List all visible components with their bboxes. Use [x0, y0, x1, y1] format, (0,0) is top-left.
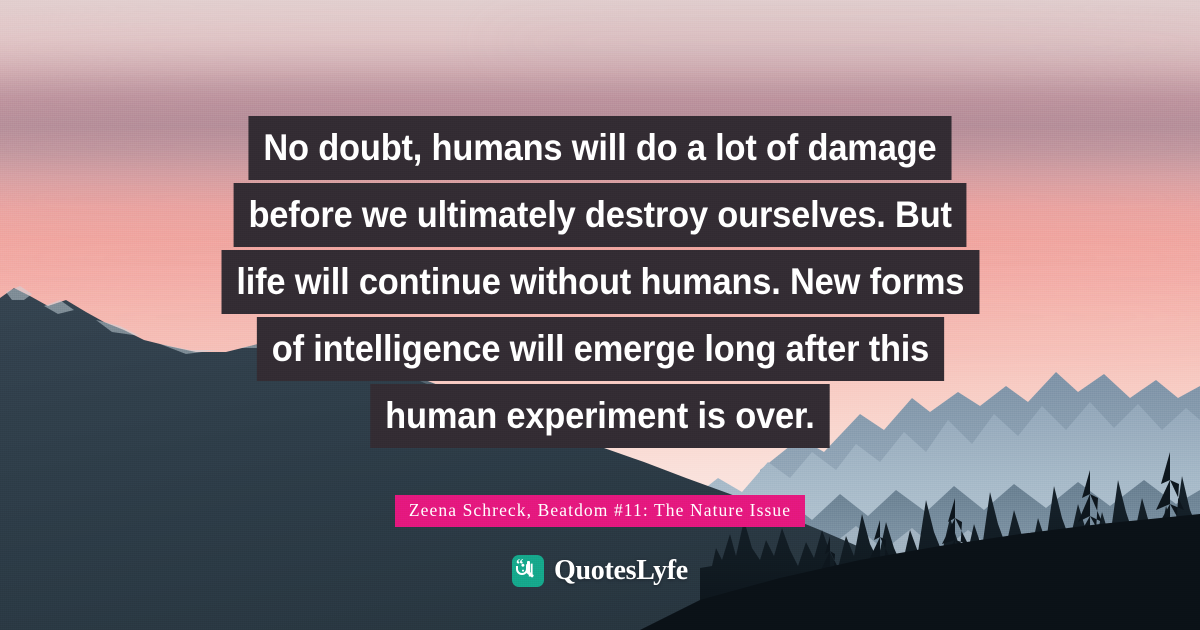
quote-mark-icon: “	[512, 555, 544, 587]
quote-line-5: human experiment is over.	[370, 384, 829, 448]
brand-logo[interactable]: “ QuotesLyfe	[0, 555, 1200, 587]
quote-card: No doubt, humans will do a lot of damage…	[0, 0, 1200, 630]
attribution-banner: Zeena Schreck, Beatdom #11: The Nature I…	[395, 495, 805, 527]
quote-text-block: No doubt, humans will do a lot of damage…	[0, 116, 1200, 451]
brand-name: QuotesLyfe	[554, 555, 688, 587]
quote-line-4: of intelligence will emerge long after t…	[256, 317, 943, 381]
attribution-row: Zeena Schreck, Beatdom #11: The Nature I…	[0, 495, 1200, 527]
quote-line-3: life will continue without humans. New f…	[221, 250, 979, 314]
quote-line-2: before we ultimately destroy ourselves. …	[233, 183, 966, 247]
quote-line-1: No doubt, humans will do a lot of damage	[249, 116, 952, 180]
